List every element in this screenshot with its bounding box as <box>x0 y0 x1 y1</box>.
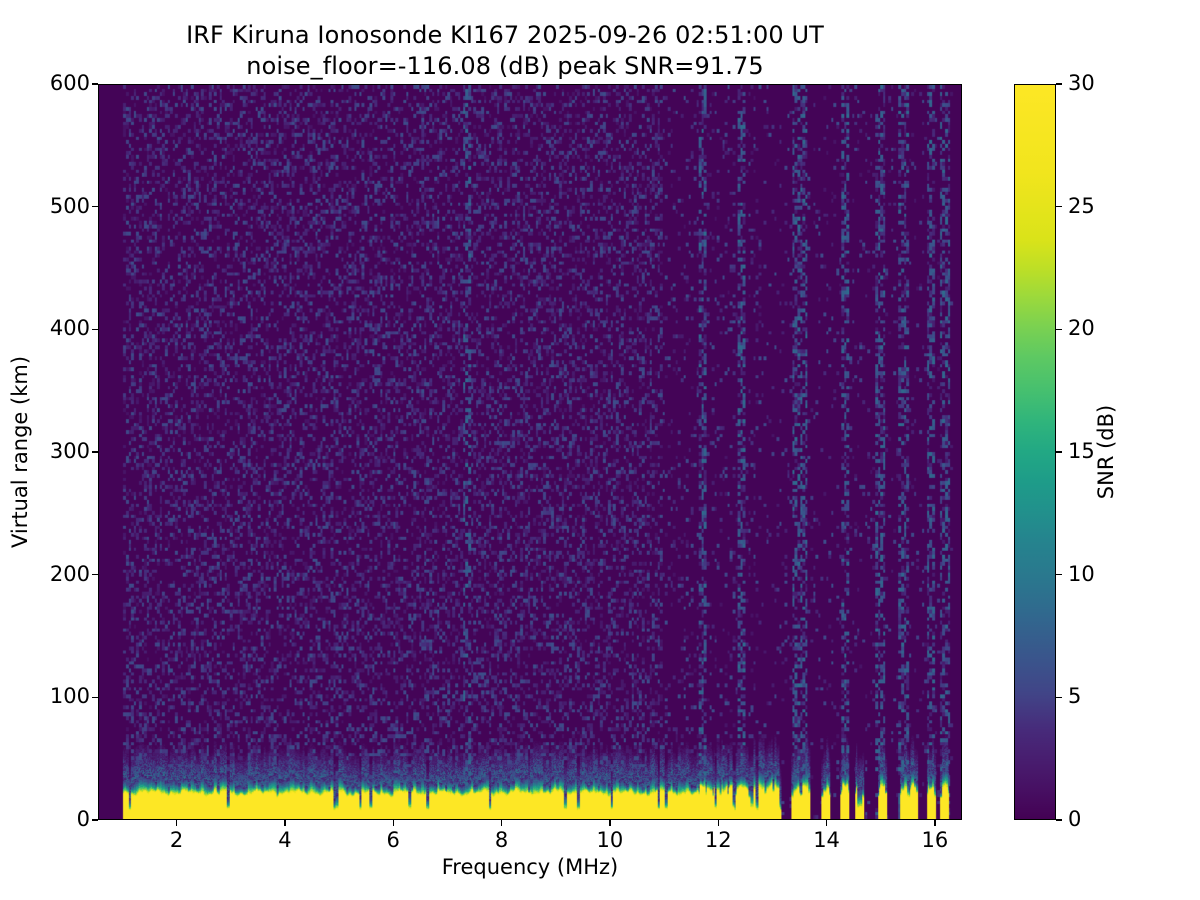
y-tick <box>92 819 98 820</box>
x-tick-label: 4 <box>255 828 315 852</box>
y-tick-label: 0 <box>2 807 90 831</box>
colorbar-tick <box>1056 451 1062 452</box>
colorbar-label: SNR (dB) <box>1094 405 1118 499</box>
colorbar-tick <box>1056 329 1062 330</box>
colorbar-tick-label: 10 <box>1068 562 1095 586</box>
ionogram-axes <box>98 84 962 820</box>
x-tick <box>393 820 394 826</box>
x-tick <box>718 820 719 826</box>
y-tick <box>92 329 98 330</box>
x-tick <box>826 820 827 826</box>
y-tick <box>92 697 98 698</box>
colorbar-tick <box>1056 697 1062 698</box>
y-tick-label: 200 <box>2 562 90 586</box>
colorbar-tick <box>1056 83 1062 84</box>
y-tick <box>92 451 98 452</box>
y-tick-label: 500 <box>2 194 90 218</box>
colorbar-tick-label: 0 <box>1068 807 1081 831</box>
x-tick-label: 8 <box>472 828 532 852</box>
y-tick <box>92 83 98 84</box>
x-tick <box>609 820 610 826</box>
x-tick <box>284 820 285 826</box>
colorbar-tick <box>1056 819 1062 820</box>
y-tick <box>92 206 98 207</box>
colorbar <box>1014 84 1056 820</box>
x-tick-label: 2 <box>147 828 207 852</box>
x-tick-label: 12 <box>688 828 748 852</box>
y-tick <box>92 574 98 575</box>
figure-title: IRF Kiruna Ionosonde KI167 2025-09-26 02… <box>0 20 1010 82</box>
colorbar-tick <box>1056 574 1062 575</box>
ionogram-figure: IRF Kiruna Ionosonde KI167 2025-09-26 02… <box>0 0 1200 900</box>
colorbar-tick-label: 30 <box>1068 71 1095 95</box>
colorbar-tick-label: 20 <box>1068 316 1095 340</box>
colorbar-tick-label: 25 <box>1068 194 1095 218</box>
heatmap-plot-area <box>99 85 961 819</box>
y-tick-label: 400 <box>2 316 90 340</box>
colorbar-tick <box>1056 206 1062 207</box>
ionogram-heatmap-canvas <box>99 85 961 819</box>
x-tick <box>934 820 935 826</box>
colorbar-tick-label: 15 <box>1068 439 1095 463</box>
y-tick-label: 100 <box>2 684 90 708</box>
x-axis-label: Frequency (MHz) <box>98 855 962 879</box>
x-tick <box>501 820 502 826</box>
x-tick-label: 6 <box>363 828 423 852</box>
y-axis-label: Virtual range (km) <box>8 356 32 548</box>
x-tick-label: 14 <box>797 828 857 852</box>
x-tick <box>176 820 177 826</box>
y-tick-label: 600 <box>2 71 90 95</box>
colorbar-tick-label: 5 <box>1068 684 1081 708</box>
x-tick-label: 16 <box>905 828 965 852</box>
x-tick-label: 10 <box>580 828 640 852</box>
